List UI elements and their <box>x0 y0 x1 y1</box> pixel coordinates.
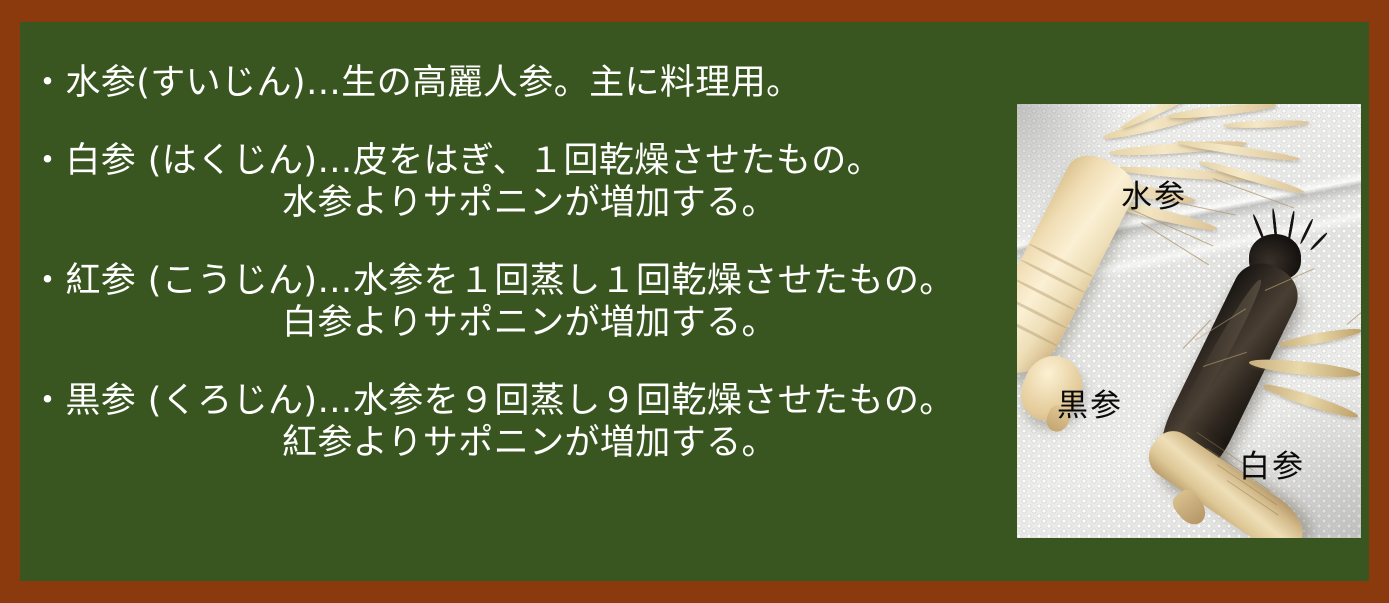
bullet-line-kurojin-2: 紅参よりサポニンが増加する。 <box>30 422 1005 464</box>
bullet-block-kurojin: ・黒参 (くろじん)…水参を９回蒸し９回乾燥させたもの。 紅参よりサポニンが増加… <box>30 380 1005 464</box>
bullet-block-hakujin: ・白参 (はくじん)…皮をはぎ、１回乾燥させたもの。 水参よりサポニンが増加する… <box>30 140 1005 224</box>
ginseng-photo: 水参 黒参 白参 <box>1017 104 1361 538</box>
bullet-line-kurojin-1: ・黒参 (くろじん)…水参を９回蒸し９回乾燥させたもの。 <box>30 380 1005 422</box>
slide-body: ・水参(すいじん)…生の高麗人参。主に料理用。 ・白参 (はくじん)…皮をはぎ、… <box>20 22 1369 581</box>
bullet-line-hakujin-2: 水参よりサポニンが増加する。 <box>30 182 1005 224</box>
photo-label-white: 白参 <box>1239 452 1305 483</box>
bullet-line-kojin-1: ・紅参 (こうじん)…水参を１回蒸し１回乾燥させたもの。 <box>30 260 1005 302</box>
bullet-line-suijin-1: ・水参(すいじん)…生の高麗人参。主に料理用。 <box>30 62 1005 104</box>
photo-label-fresh: 水参 <box>1121 182 1187 213</box>
bullet-line-kojin-2: 白参よりサポニンが増加する。 <box>30 302 1005 344</box>
photo-canvas: 水参 黒参 白参 <box>1017 104 1361 538</box>
bullet-block-suijin: ・水参(すいじん)…生の高麗人参。主に料理用。 <box>30 62 1005 104</box>
bullet-line-hakujin-1: ・白参 (はくじん)…皮をはぎ、１回乾燥させたもの。 <box>30 140 1005 182</box>
bullet-block-kojin: ・紅参 (こうじん)…水参を１回蒸し１回乾燥させたもの。 白参よりサポニンが増加… <box>30 260 1005 344</box>
text-column: ・水参(すいじん)…生の高麗人参。主に料理用。 ・白参 (はくじん)…皮をはぎ、… <box>30 62 1005 500</box>
photo-label-black: 黒参 <box>1057 391 1123 422</box>
slide: ・水参(すいじん)…生の高麗人参。主に料理用。 ・白参 (はくじん)…皮をはぎ、… <box>0 0 1389 603</box>
